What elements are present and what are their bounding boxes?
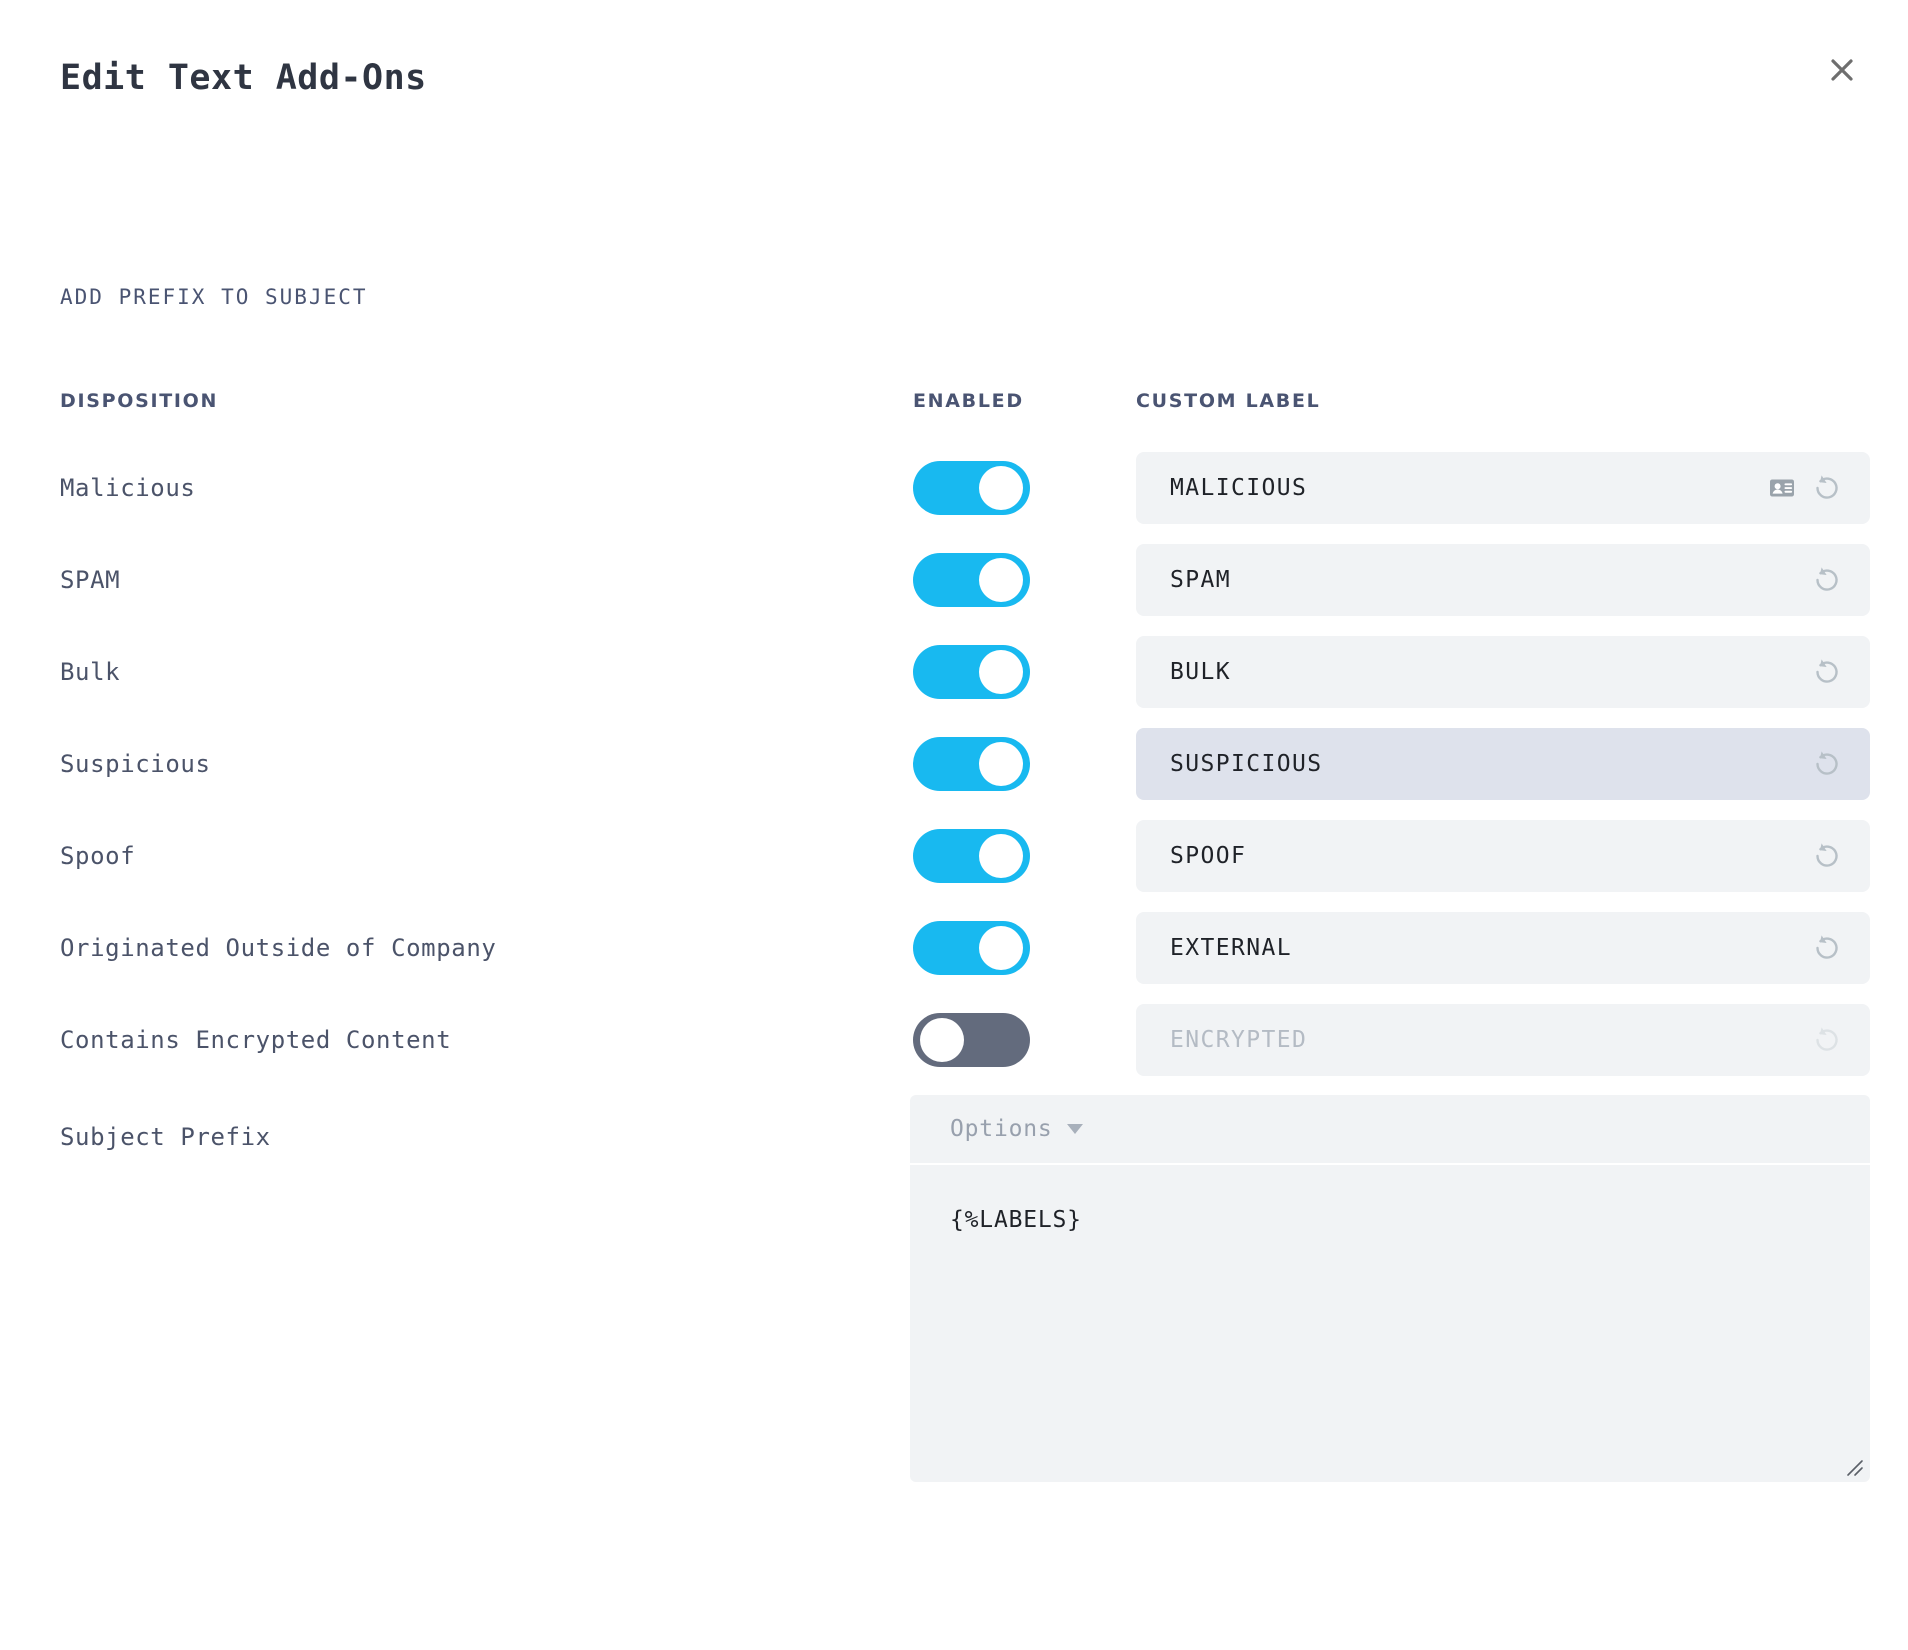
custom-label-value: SPAM (1170, 567, 1810, 593)
custom-label-input: ENCRYPTED (1136, 1004, 1870, 1076)
toggle-knob (920, 1018, 964, 1062)
table-row: MaliciousMALICIOUS (0, 442, 1908, 534)
options-dropdown-button[interactable]: Options (910, 1095, 1870, 1163)
subject-prefix-section: Subject Prefix Options {%LABELS} (0, 1095, 1908, 1595)
reset-icon[interactable] (1810, 563, 1844, 597)
reset-icon[interactable] (1810, 931, 1844, 965)
custom-label-value: EXTERNAL (1170, 935, 1810, 961)
close-button[interactable] (1820, 48, 1864, 92)
enabled-toggle[interactable] (913, 553, 1030, 607)
custom-label-value: ENCRYPTED (1170, 1027, 1810, 1053)
contact-card-icon[interactable] (1768, 474, 1796, 502)
custom-label-input[interactable]: MALICIOUS (1136, 452, 1870, 524)
close-icon (1826, 54, 1858, 86)
reset-icon[interactable] (1810, 655, 1844, 689)
chevron-down-icon (1067, 1124, 1083, 1134)
reset-icon[interactable] (1810, 839, 1844, 873)
enabled-toggle[interactable] (913, 737, 1030, 791)
table-rows: MaliciousMALICIOUSSPAMSPAMBulkBULKSuspic… (0, 442, 1908, 1086)
field-icon-group (1810, 747, 1844, 781)
page-title: Edit Text Add-Ons (60, 58, 427, 98)
column-header-enabled: ENABLED (913, 390, 1024, 412)
field-icon-group (1810, 839, 1844, 873)
table-row: SpoofSPOOF (0, 810, 1908, 902)
table-column-headers: DISPOSITION ENABLED CUSTOM LABEL (0, 390, 1908, 442)
enabled-toggle[interactable] (913, 829, 1030, 883)
toggle-knob (979, 558, 1023, 602)
resize-grip-icon[interactable] (1842, 1455, 1864, 1477)
field-icon-group (1810, 655, 1844, 689)
field-icon-group (1810, 563, 1844, 597)
subject-prefix-label: Subject Prefix (60, 1123, 271, 1151)
column-header-disposition: DISPOSITION (60, 390, 218, 412)
table-row: Contains Encrypted ContentENCRYPTED (0, 994, 1908, 1086)
add-prefix-table: DISPOSITION ENABLED CUSTOM LABEL Malicio… (0, 390, 1908, 1086)
custom-label-value: SPOOF (1170, 843, 1810, 869)
field-icon-group (1810, 1023, 1844, 1057)
toggle-knob (979, 466, 1023, 510)
disposition-label: Suspicious (60, 750, 211, 778)
section-heading: ADD PREFIX TO SUBJECT (60, 285, 368, 309)
disposition-label: SPAM (60, 566, 120, 594)
disposition-label: Malicious (60, 474, 195, 502)
options-dropdown-label: Options (950, 1116, 1053, 1142)
enabled-toggle[interactable] (913, 461, 1030, 515)
disposition-label: Contains Encrypted Content (60, 1026, 451, 1054)
disposition-label: Bulk (60, 658, 120, 686)
reset-icon[interactable] (1810, 747, 1844, 781)
toggle-knob (979, 650, 1023, 694)
reset-icon[interactable] (1810, 471, 1844, 505)
custom-label-value: SUSPICIOUS (1170, 751, 1810, 777)
custom-label-input[interactable]: BULK (1136, 636, 1870, 708)
disposition-label: Originated Outside of Company (60, 934, 496, 962)
toggle-knob (979, 742, 1023, 786)
custom-label-value: MALICIOUS (1170, 475, 1768, 501)
toggle-knob (979, 834, 1023, 878)
table-row: SPAMSPAM (0, 534, 1908, 626)
table-row: Originated Outside of CompanyEXTERNAL (0, 902, 1908, 994)
dialog-header: Edit Text Add-Ons (0, 0, 1908, 150)
table-row: BulkBULK (0, 626, 1908, 718)
custom-label-input[interactable]: SPAM (1136, 544, 1870, 616)
column-header-custom-label: CUSTOM LABEL (1136, 390, 1320, 412)
custom-label-input[interactable]: EXTERNAL (1136, 912, 1870, 984)
enabled-toggle[interactable] (913, 921, 1030, 975)
custom-label-input[interactable]: SUSPICIOUS (1136, 728, 1870, 800)
custom-label-input[interactable]: SPOOF (1136, 820, 1870, 892)
field-icon-group (1768, 471, 1844, 505)
reset-icon (1810, 1023, 1844, 1057)
table-row: SuspiciousSUSPICIOUS (0, 718, 1908, 810)
subject-prefix-textarea-value: {%LABELS} (950, 1207, 1082, 1233)
disposition-label: Spoof (60, 842, 135, 870)
custom-label-value: BULK (1170, 659, 1810, 685)
enabled-toggle[interactable] (913, 1013, 1030, 1067)
field-icon-group (1810, 931, 1844, 965)
toggle-knob (979, 926, 1023, 970)
subject-prefix-textarea[interactable]: {%LABELS} (910, 1165, 1870, 1482)
enabled-toggle[interactable] (913, 645, 1030, 699)
